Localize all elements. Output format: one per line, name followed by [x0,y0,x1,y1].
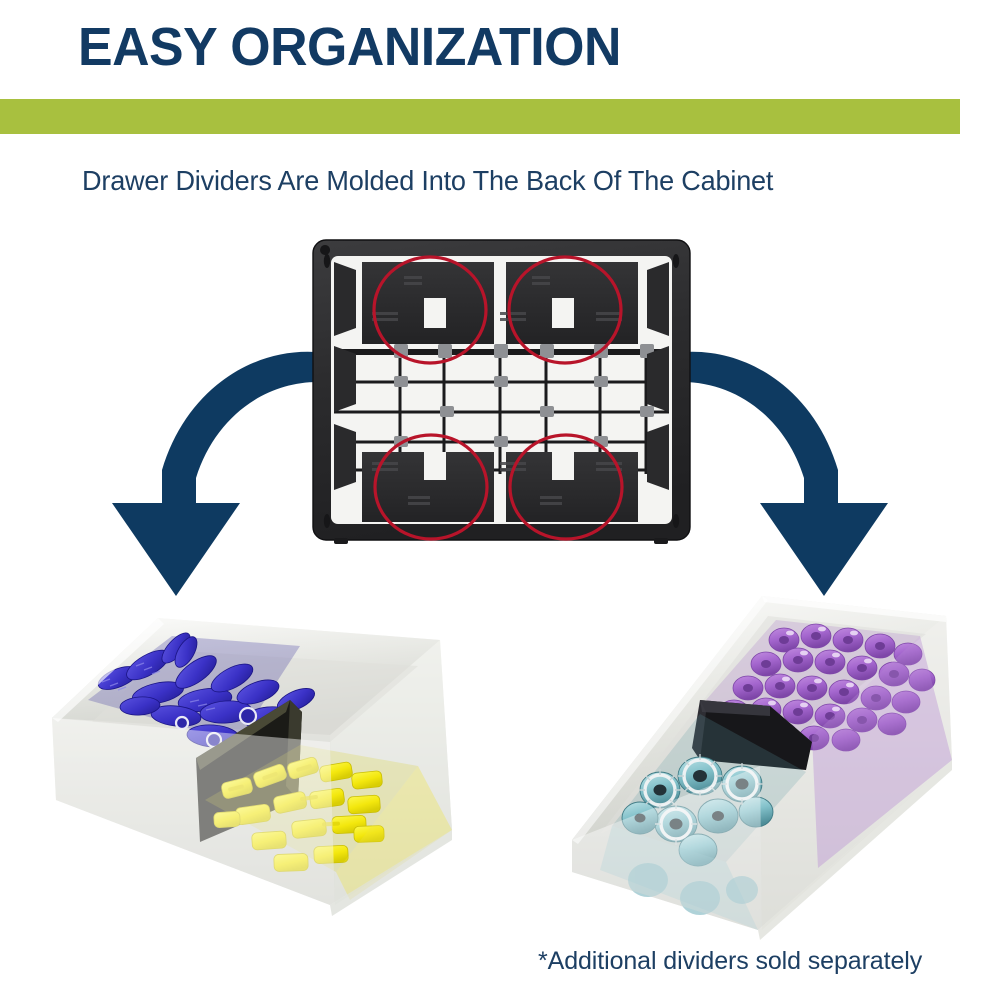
right-drawer [0,0,1000,1000]
infographic-canvas: EASY ORGANIZATION Drawer Dividers Are Mo… [0,0,1000,1000]
